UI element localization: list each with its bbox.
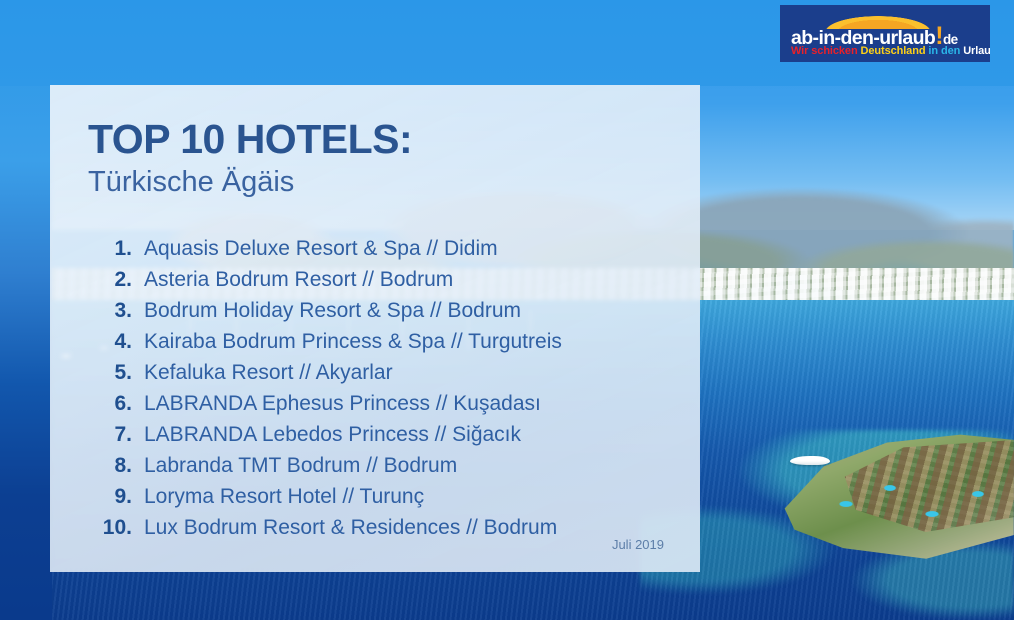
- left-blue-band: [0, 0, 52, 620]
- hotel-name: LABRANDA Lebedos Princess // Siğacık: [144, 423, 521, 447]
- yacht-icon: [790, 456, 830, 465]
- list-item: 10. Lux Bodrum Resort & Residences // Bo…: [88, 516, 680, 540]
- list-item: 7. LABRANDA Lebedos Princess // Siğacık: [88, 423, 680, 447]
- tagline-part-1: Wir schicken: [791, 45, 858, 57]
- hotel-rank: 1.: [88, 237, 144, 261]
- hotel-name: LABRANDA Ephesus Princess // Kuşadası: [144, 392, 541, 416]
- logo-tagline: Wir schicken Deutschland in den Urlaub: [791, 45, 983, 57]
- hotel-rank: 7.: [88, 423, 144, 447]
- date-stamp: Juli 2019: [612, 537, 664, 552]
- tagline-part-2: Deutschland: [861, 45, 926, 57]
- list-item: 6. LABRANDA Ephesus Princess // Kuşadası: [88, 392, 680, 416]
- hotel-name: Loryma Resort Hotel // Turunç: [144, 485, 424, 509]
- hotel-ranking-list: 1. Aquasis Deluxe Resort & Spa // Didim …: [88, 237, 680, 540]
- content-panel: TOP 10 HOTELS: Türkische Ägäis 1. Aquasi…: [50, 85, 700, 572]
- hotel-rank: 3.: [88, 299, 144, 323]
- list-item: 1. Aquasis Deluxe Resort & Spa // Didim: [88, 237, 680, 261]
- hotel-name: Bodrum Holiday Resort & Spa // Bodrum: [144, 299, 521, 323]
- hotel-rank: 9.: [88, 485, 144, 509]
- hotel-rank: 6.: [88, 392, 144, 416]
- list-item: 2. Asteria Bodrum Resort // Bodrum: [88, 268, 680, 292]
- page-title: TOP 10 HOTELS:: [88, 118, 680, 161]
- hotel-rank: 4.: [88, 330, 144, 354]
- list-item: 4. Kairaba Bodrum Princess & Spa // Turg…: [88, 330, 680, 354]
- hotel-name: Lux Bodrum Resort & Residences // Bodrum: [144, 516, 557, 540]
- list-item: 5. Kefaluka Resort // Akyarlar: [88, 361, 680, 385]
- list-item: 8. Labranda TMT Bodrum // Bodrum: [88, 454, 680, 478]
- list-item: 3. Bodrum Holiday Resort & Spa // Bodrum: [88, 299, 680, 323]
- panel-content: TOP 10 HOTELS: Türkische Ägäis 1. Aquasi…: [88, 118, 680, 556]
- hotel-name: Kairaba Bodrum Princess & Spa // Turgutr…: [144, 330, 562, 354]
- resort-pools: [828, 470, 1010, 530]
- tagline-part-3: in den: [928, 45, 960, 57]
- tagline-part-4: Urlaub: [963, 45, 990, 57]
- infographic-canvas: TOP 10 HOTELS: Türkische Ägäis 1. Aquasi…: [0, 0, 1014, 620]
- brand-logo[interactable]: ab-in-den-urlaub!de Wir schicken Deutsch…: [780, 5, 990, 62]
- hotel-rank: 5.: [88, 361, 144, 385]
- hotel-name: Kefaluka Resort // Akyarlar: [144, 361, 393, 385]
- page-subtitle: Türkische Ägäis: [88, 167, 680, 199]
- hotel-name: Aquasis Deluxe Resort & Spa // Didim: [144, 237, 498, 261]
- list-item: 9. Loryma Resort Hotel // Turunç: [88, 485, 680, 509]
- hotel-rank: 2.: [88, 268, 144, 292]
- hotel-rank: 8.: [88, 454, 144, 478]
- hotel-name: Asteria Bodrum Resort // Bodrum: [144, 268, 453, 292]
- hotel-name: Labranda TMT Bodrum // Bodrum: [144, 454, 457, 478]
- hotel-rank: 10.: [88, 516, 144, 540]
